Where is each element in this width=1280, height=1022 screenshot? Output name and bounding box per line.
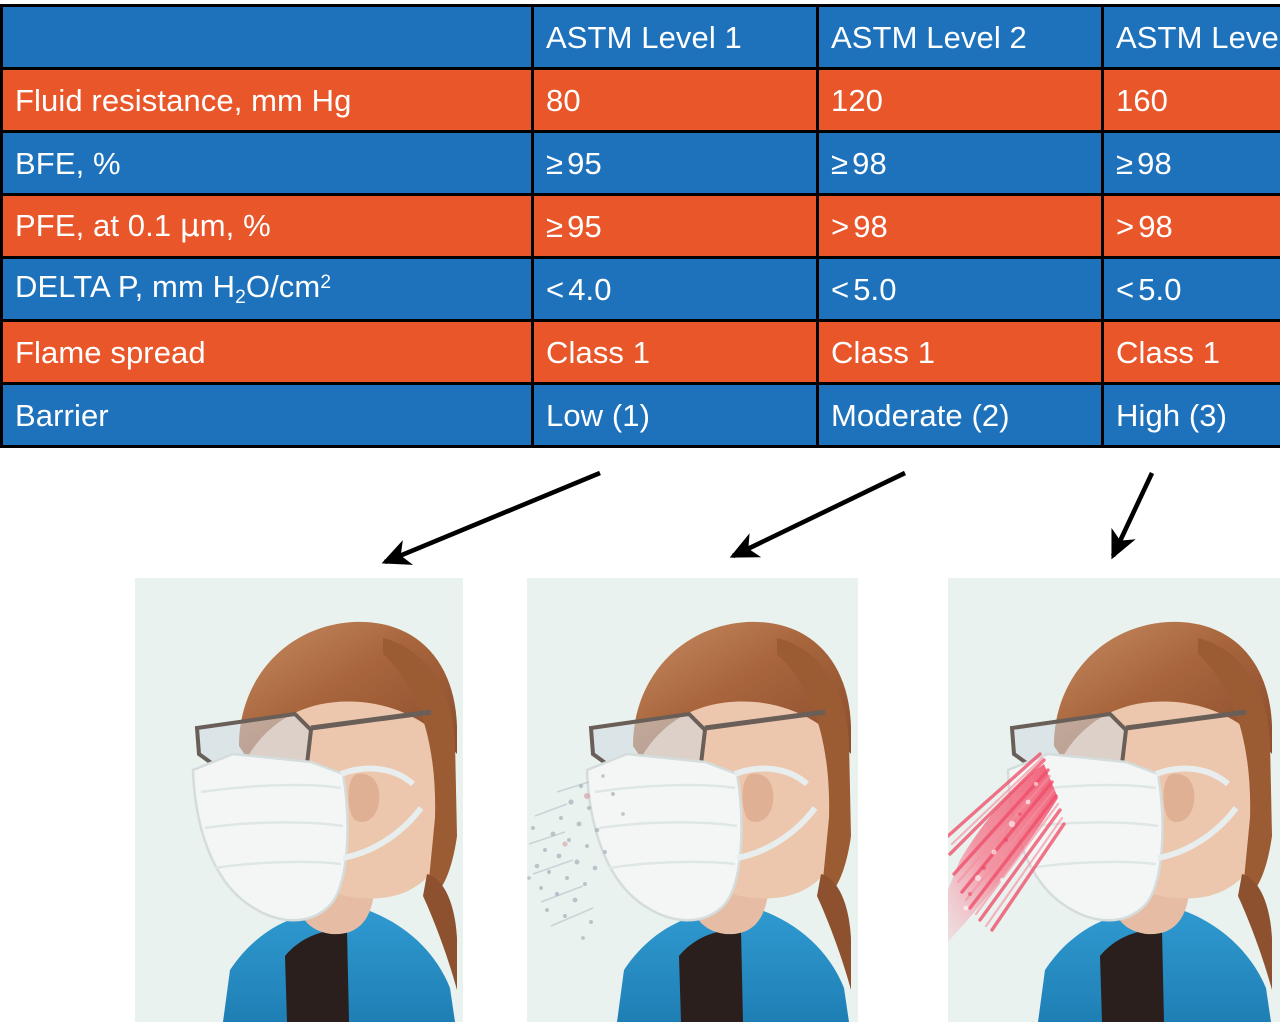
cell-delta-p-level-2: <5.0: [818, 258, 1103, 321]
cell-barrier-level-2: Moderate (2): [818, 384, 1103, 447]
cell-bfe-level-2: ≥98: [818, 132, 1103, 195]
value-number: 98: [853, 209, 888, 244]
label-part-pre: DELTA P, mm H: [15, 269, 235, 304]
photo-level-2-illustration: [527, 578, 858, 1022]
table-row-barrier: Barrier Low (1) Moderate (2) High (3): [2, 384, 1280, 447]
subscript-two: 2: [235, 287, 246, 308]
comparison-operator: >: [1116, 211, 1134, 242]
row-label-flame-spread: Flame spread: [2, 321, 533, 384]
astm-mask-specification-table: ASTM Level 1 ASTM Level 2 ASTM Level 3 F…: [0, 4, 1280, 448]
comparison-operator: <: [546, 274, 564, 305]
table-row-flame-spread: Flame spread Class 1 Class 1 Class 1: [2, 321, 1280, 384]
row-label-barrier: Barrier: [2, 384, 533, 447]
comparison-operator: >: [831, 211, 849, 242]
value-number: 98: [1137, 146, 1172, 181]
value-number: 95: [567, 209, 602, 244]
row-label-fluid-resistance: Fluid resistance, mm Hg: [2, 69, 533, 132]
photo-level-1: [135, 578, 463, 1022]
value-number: 4.0: [568, 272, 611, 307]
row-label-pfe: PFE, at 0.1 μm, %: [2, 195, 533, 258]
comparison-operator: ≥: [1116, 148, 1133, 179]
comparison-operator: ≥: [831, 148, 848, 179]
table-row-pfe: PFE, at 0.1 μm, % ≥95 >98 >98: [2, 195, 1280, 258]
value-number: 95: [567, 146, 602, 181]
photo-level-3-illustration: [948, 578, 1280, 1022]
row-label-delta-p: DELTA P, mm H2O/cm2: [2, 258, 533, 321]
table-row-bfe: BFE, % ≥95 ≥98 ≥98: [2, 132, 1280, 195]
row-label-bfe: BFE, %: [2, 132, 533, 195]
photo-level-2: [527, 578, 858, 1022]
label-part-pre: PFE, at 0.1: [15, 208, 180, 243]
arrow-to-level-3: [1113, 473, 1152, 556]
table-row-fluid-resistance: Fluid resistance, mm Hg 80 120 160: [2, 69, 1280, 132]
table-header-row: ASTM Level 1 ASTM Level 2 ASTM Level 3: [2, 6, 1280, 69]
comparison-operator: ≥: [546, 148, 563, 179]
cell-barrier-level-3: High (3): [1103, 384, 1280, 447]
column-header-astm-level-2: ASTM Level 2: [818, 6, 1103, 69]
cell-pfe-level-3: >98: [1103, 195, 1280, 258]
photo-level-3: [948, 578, 1280, 1022]
value-number: 5.0: [1138, 272, 1181, 307]
spray-droplet: [584, 793, 590, 799]
comparison-operator: ≥: [546, 211, 563, 242]
cell-barrier-level-1: Low (1): [533, 384, 818, 447]
value-number: 98: [1138, 209, 1173, 244]
cell-flame-spread-level-1: Class 1: [533, 321, 818, 384]
column-header-astm-level-1: ASTM Level 1: [533, 6, 818, 69]
comparison-operator: <: [1116, 274, 1134, 305]
table-row-delta-p: DELTA P, mm H2O/cm2 <4.0 <5.0 <5.0: [2, 258, 1280, 321]
cell-bfe-level-3: ≥98: [1103, 132, 1280, 195]
cell-flame-spread-level-2: Class 1: [818, 321, 1103, 384]
cell-fluid-resistance-level-3: 160: [1103, 69, 1280, 132]
value-number: 98: [852, 146, 887, 181]
cell-delta-p-level-3: <5.0: [1103, 258, 1280, 321]
spray-droplet: [562, 841, 567, 846]
cell-fluid-resistance-level-1: 80: [533, 69, 818, 132]
cell-bfe-level-1: ≥95: [533, 132, 818, 195]
photo-level-1-illustration: [135, 578, 463, 1022]
table-corner-cell: [2, 6, 533, 69]
arrow-to-level-2: [733, 473, 905, 556]
comparison-operator: <: [831, 274, 849, 305]
superscript-two: 2: [320, 272, 331, 293]
cell-delta-p-level-1: <4.0: [533, 258, 818, 321]
micro-symbol: μ: [180, 208, 200, 244]
arrow-to-level-1: [385, 473, 600, 562]
cell-pfe-level-2: >98: [818, 195, 1103, 258]
label-part-mid: O/cm: [246, 269, 320, 304]
label-part-post: m, %: [200, 208, 271, 243]
value-number: 5.0: [853, 272, 896, 307]
column-header-astm-level-3: ASTM Level 3: [1103, 6, 1280, 69]
cell-flame-spread-level-3: Class 1: [1103, 321, 1280, 384]
cell-fluid-resistance-level-2: 120: [818, 69, 1103, 132]
cell-pfe-level-1: ≥95: [533, 195, 818, 258]
